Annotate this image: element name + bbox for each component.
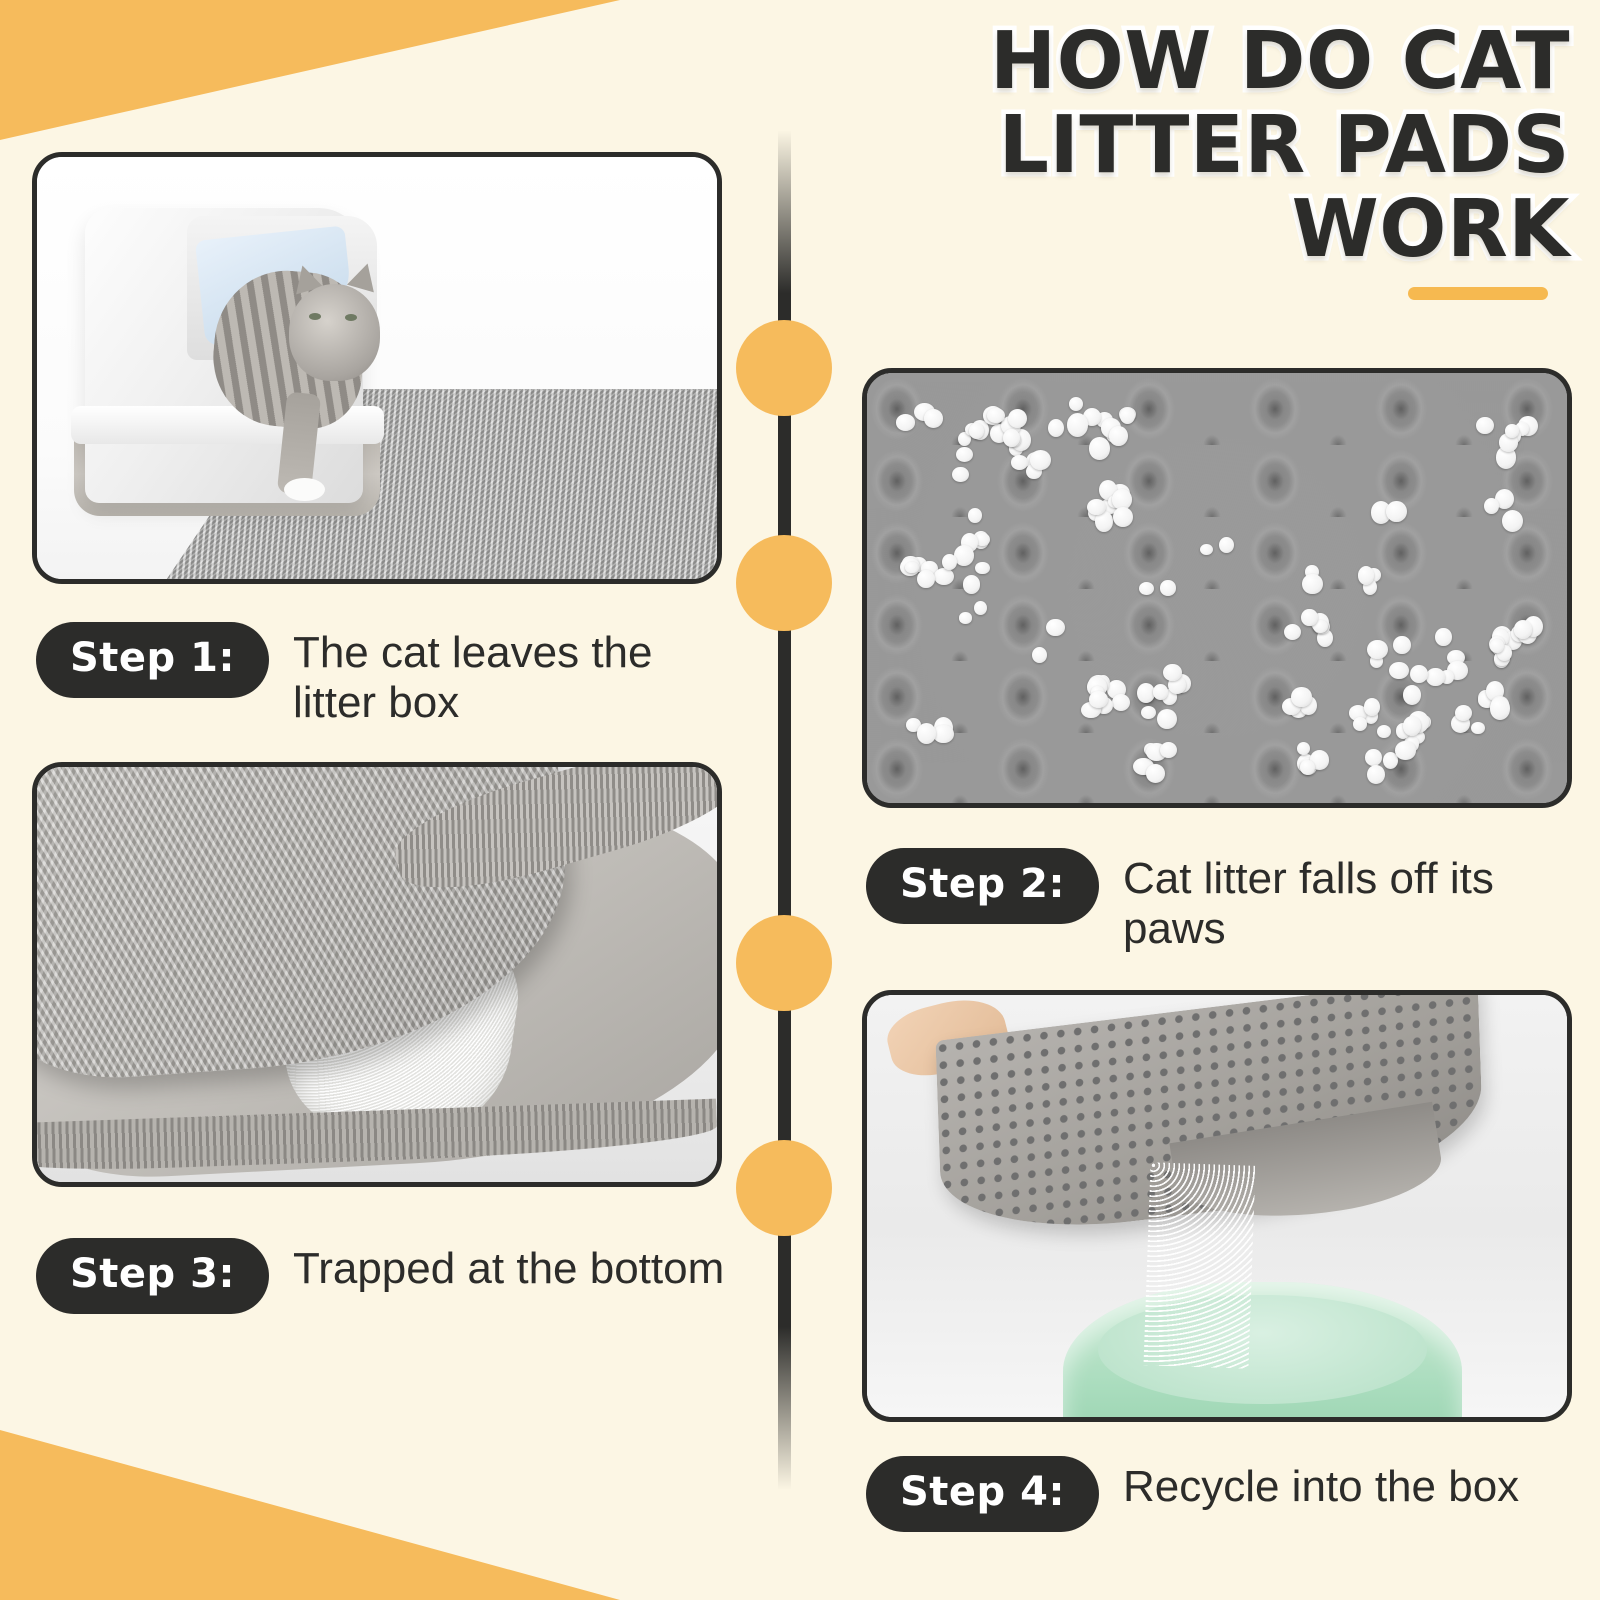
page-title: HOW DO CAT LITTER PADS WORK [760,22,1570,300]
infographic-page: HOW DO CAT LITTER PADS WORK [0,0,1600,1600]
step-1-text: The cat leaves the litter box [293,622,736,728]
litter-pellet [975,562,989,575]
timeline-dot-3 [736,915,832,1011]
litter-pellet [917,723,936,743]
step-1-badge: Step 1: [36,622,269,698]
litter-pellet [1089,437,1110,459]
litter-pellet [1476,417,1493,434]
step-4-photo [862,990,1572,1422]
litter-pellet [963,575,981,593]
step-2-badge: Step 2: [866,848,1099,924]
step-1-caption: Step 1: The cat leaves the litter box [36,622,736,728]
title-line-2: LITTER PADS [760,106,1570,184]
litter-pellet [1393,636,1411,655]
litter-pellet [905,562,918,573]
step-4-text: Recycle into the box [1123,1456,1519,1512]
litter-pellet [1386,501,1406,522]
litter-pellet [1046,619,1065,637]
litter-pellet [968,508,982,523]
step-2-caption: Step 2: Cat litter falls off its paws [866,848,1572,954]
litter-pellet [1048,419,1064,437]
title-line-1: HOW DO CAT [760,22,1570,100]
litter-pellet [959,612,972,623]
litter-pellet [1030,450,1051,470]
litter-pellet [1410,665,1428,683]
litter-pellet [1160,580,1175,595]
litter-pellet [1141,706,1156,719]
litter-stream-graphic [1143,1162,1255,1368]
litter-pellet [1364,698,1380,716]
litter-pellet [1067,413,1088,436]
litter-pellet [1365,749,1381,766]
title-underline [1408,287,1548,300]
litter-pellet [1395,741,1415,760]
timeline-dot-2 [736,535,832,631]
litter-pellet [1300,760,1315,775]
litter-pellet [1367,640,1388,660]
litter-pellet [1160,742,1177,758]
litter-pellet [1505,424,1519,438]
step-3-caption: Step 3: Trapped at the bottom [36,1238,736,1314]
litter-pellet [917,570,935,588]
step-3-photo [32,762,722,1187]
corner-wedge-top-left [0,0,620,140]
litter-pellet [896,414,915,431]
litter-pellet [1502,510,1523,532]
litter-pellet [1284,624,1301,640]
step-4-caption: Step 4: Recycle into the box [866,1456,1572,1532]
litter-pellet [934,568,954,585]
step-2-photo [862,368,1572,808]
step-4-badge: Step 4: [866,1456,1099,1532]
step-3-badge: Step 3: [36,1238,269,1314]
litter-pellet [1302,574,1323,595]
litter-pellet [1377,725,1391,738]
litter-pellet [1358,566,1374,585]
litter-pellet [933,725,954,744]
step-2-text: Cat litter falls off its paws [1123,848,1572,954]
litter-pellet [987,408,1005,423]
step-3-text: Trapped at the bottom [293,1238,724,1294]
litter-pellet [1109,426,1128,446]
litter-pellet [1301,609,1318,627]
litter-pellet [1490,697,1510,719]
litter-pellet [1435,628,1452,646]
step-1-photo [32,152,722,584]
title-line-3: WORK [760,190,1570,268]
litter-pellet [1490,639,1504,653]
litter-pellet [1471,722,1485,735]
litter-pellet [969,423,984,439]
litter-pellet [1484,498,1499,514]
timeline-dot-1 [736,320,832,416]
litter-pellet [1514,620,1532,638]
litter-pellet [924,409,943,428]
corner-wedge-bottom-left [0,1430,620,1600]
litter-pellet [1087,499,1106,516]
timeline-dot-4 [736,1140,832,1236]
litter-pellet [1163,664,1182,682]
litter-pellet [956,447,973,462]
litter-pellet [952,467,968,482]
litter-pellet [1353,717,1367,731]
